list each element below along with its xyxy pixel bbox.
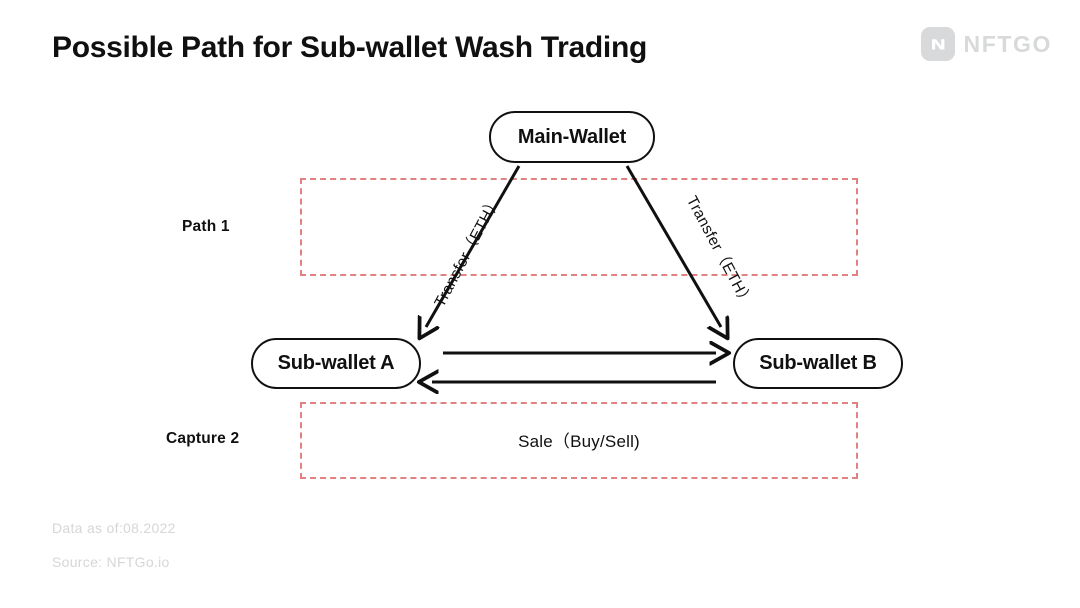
region-label-path1: Path 1 <box>182 218 230 236</box>
region-box-path1 <box>300 178 858 276</box>
brand-name: NFTGO <box>964 31 1053 58</box>
node-main-wallet-label: Main-Wallet <box>518 126 626 149</box>
node-sub-wallet-a[interactable]: Sub-wallet A <box>251 338 421 389</box>
node-sub-wallet-a-label: Sub-wallet A <box>278 352 395 375</box>
diagram-canvas: Possible Path for Sub-wallet Wash Tradin… <box>0 0 1080 608</box>
nftgo-logo-icon <box>921 27 955 61</box>
node-sub-wallet-b[interactable]: Sub-wallet B <box>733 338 903 389</box>
sale-label: Sale（Buy/Sell) <box>300 427 858 452</box>
arrow-layer <box>0 0 1080 608</box>
node-sub-wallet-b-label: Sub-wallet B <box>759 352 877 375</box>
footer-source: Source: NFTGo.io <box>52 554 170 570</box>
footer-data-as-of: Data as of:08.2022 <box>52 520 176 536</box>
page-title: Possible Path for Sub-wallet Wash Tradin… <box>52 28 812 68</box>
region-label-capture2: Capture 2 <box>166 430 239 448</box>
brand-logo: NFTGO <box>921 27 1053 61</box>
node-main-wallet[interactable]: Main-Wallet <box>489 111 655 163</box>
